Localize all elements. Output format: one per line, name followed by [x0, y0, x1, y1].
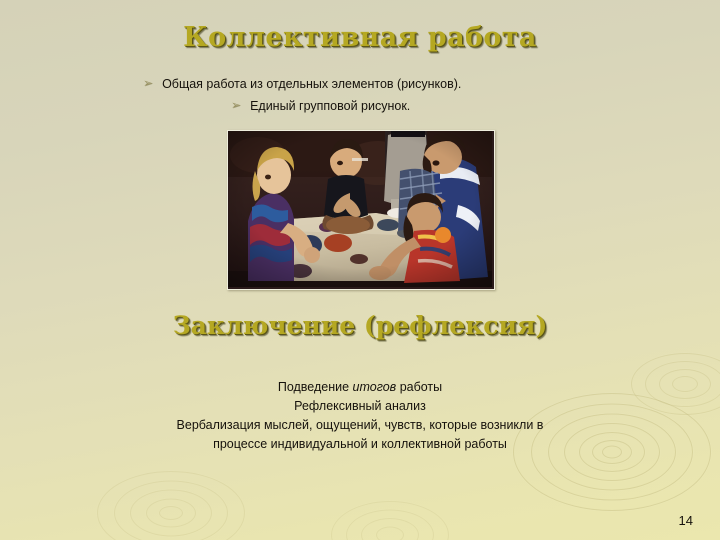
ripple-watermark-bottom-left: [96, 470, 246, 540]
photo-image: [228, 131, 492, 287]
collective-artwork-photo: [227, 130, 495, 290]
ripple-watermark-bottom-center: [330, 500, 450, 540]
arrow-bullet-icon: ➢: [231, 98, 241, 113]
conclusion-line-pre: Подведение: [278, 380, 353, 394]
conclusion-line: Рефлексивный анализ: [60, 397, 660, 416]
conclusion-line-emphasis: итогов: [353, 380, 397, 394]
list-item: ➢ Общая работа из отдельных элементов (р…: [0, 76, 720, 93]
bullet-list: ➢ Общая работа из отдельных элементов (р…: [0, 76, 720, 120]
arrow-bullet-icon: ➢: [143, 76, 153, 91]
list-item: ➢ Единый групповой рисунок.: [0, 98, 720, 115]
list-item-label: Общая работа из отдельных элементов (рис…: [162, 76, 461, 93]
conclusion-text-block: Подведение итогов работы Рефлексивный ан…: [60, 378, 660, 454]
section-title: Заключение (рефлексия): [0, 311, 720, 340]
conclusion-line: Вербализация мыслей, ощущений, чувств, к…: [60, 416, 660, 435]
presentation-slide: Коллективная работа ➢ Общая работа из от…: [0, 0, 720, 540]
page-title: Коллективная работа: [0, 22, 720, 53]
conclusion-line: процессе индивидуальной и коллективной р…: [60, 435, 660, 454]
conclusion-line-post: работы: [396, 380, 442, 394]
list-item-label: Единый групповой рисунок.: [250, 98, 410, 115]
page-number: 14: [679, 513, 693, 528]
conclusion-line: Подведение итогов работы: [60, 378, 660, 397]
